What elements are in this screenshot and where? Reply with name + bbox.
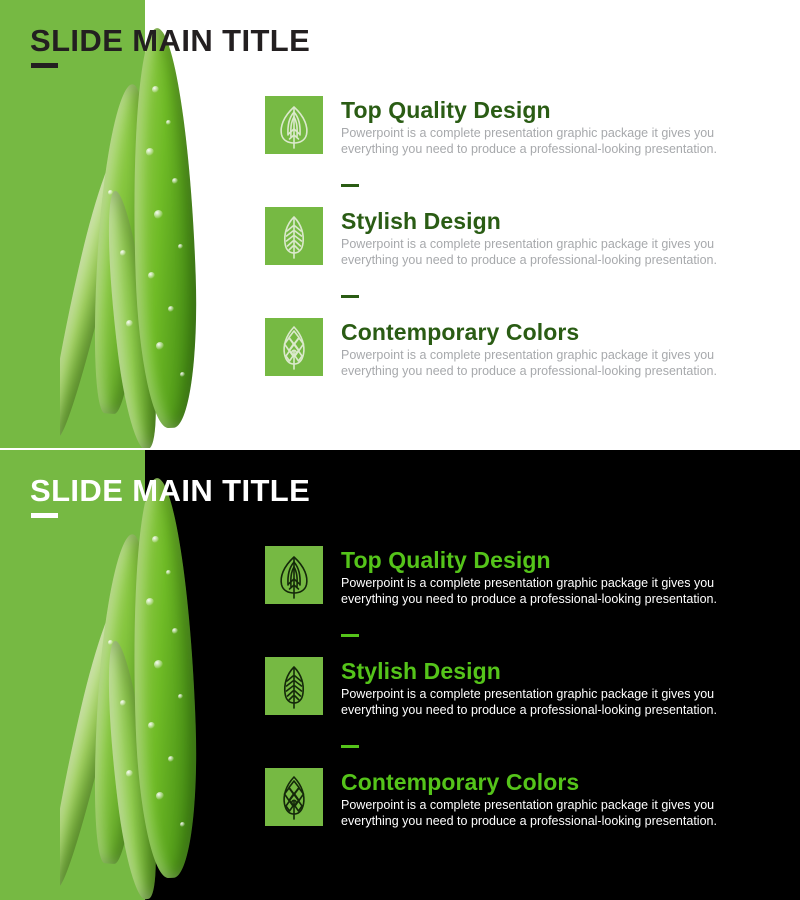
feature-body: Contemporary Colors Powerpoint is a comp… bbox=[341, 768, 765, 829]
feature-item: Top Quality Design Powerpoint is a compl… bbox=[265, 96, 765, 162]
feature-description: Powerpoint is a complete presentation gr… bbox=[341, 686, 721, 718]
feature-item: Top Quality Design Powerpoint is a compl… bbox=[265, 546, 765, 612]
leaves-photo bbox=[60, 450, 222, 900]
feature-list: Top Quality Design Powerpoint is a compl… bbox=[265, 546, 765, 834]
feature-body: Stylish Design Powerpoint is a complete … bbox=[341, 657, 765, 718]
feature-title: Contemporary Colors bbox=[341, 320, 765, 344]
title-underline-rule bbox=[31, 513, 58, 518]
feature-body: Top Quality Design Powerpoint is a compl… bbox=[341, 96, 765, 157]
feature-title: Top Quality Design bbox=[341, 548, 765, 572]
feature-divider bbox=[341, 745, 359, 748]
slide-deck: SLIDE MAIN TITLE bbox=[0, 0, 800, 900]
title-underline-rule bbox=[31, 63, 58, 68]
leaf-veined-icon bbox=[265, 96, 323, 154]
feature-title: Stylish Design bbox=[341, 659, 765, 683]
leaf-veined-icon bbox=[265, 546, 323, 604]
feature-item: Contemporary Colors Powerpoint is a comp… bbox=[265, 318, 765, 384]
feature-description: Powerpoint is a complete presentation gr… bbox=[341, 236, 721, 268]
feature-list: Top Quality Design Powerpoint is a compl… bbox=[265, 96, 765, 384]
feature-divider bbox=[341, 634, 359, 637]
feature-body: Contemporary Colors Powerpoint is a comp… bbox=[341, 318, 765, 379]
feature-divider bbox=[341, 295, 359, 298]
slide-dark: SLIDE MAIN TITLE bbox=[0, 450, 800, 900]
leaf-lattice-tree-icon bbox=[265, 768, 323, 826]
feature-description: Powerpoint is a complete presentation gr… bbox=[341, 575, 721, 607]
slide-light: SLIDE MAIN TITLE bbox=[0, 0, 800, 448]
feature-description: Powerpoint is a complete presentation gr… bbox=[341, 347, 721, 379]
feature-description: Powerpoint is a complete presentation gr… bbox=[341, 125, 721, 157]
feature-title: Stylish Design bbox=[341, 209, 765, 233]
feature-item: Stylish Design Powerpoint is a complete … bbox=[265, 657, 765, 723]
feature-description: Powerpoint is a complete presentation gr… bbox=[341, 797, 721, 829]
leaf-feather-icon bbox=[265, 657, 323, 715]
leaves-photo bbox=[60, 0, 222, 448]
feature-body: Stylish Design Powerpoint is a complete … bbox=[341, 207, 765, 268]
feature-item: Contemporary Colors Powerpoint is a comp… bbox=[265, 768, 765, 834]
page-title: SLIDE MAIN TITLE bbox=[30, 25, 310, 56]
feature-title: Top Quality Design bbox=[341, 98, 765, 122]
leaf-lattice-tree-icon bbox=[265, 318, 323, 376]
feature-divider bbox=[341, 184, 359, 187]
feature-body: Top Quality Design Powerpoint is a compl… bbox=[341, 546, 765, 607]
page-title: SLIDE MAIN TITLE bbox=[30, 475, 310, 506]
leaf-feather-icon bbox=[265, 207, 323, 265]
feature-title: Contemporary Colors bbox=[341, 770, 765, 794]
feature-item: Stylish Design Powerpoint is a complete … bbox=[265, 207, 765, 273]
